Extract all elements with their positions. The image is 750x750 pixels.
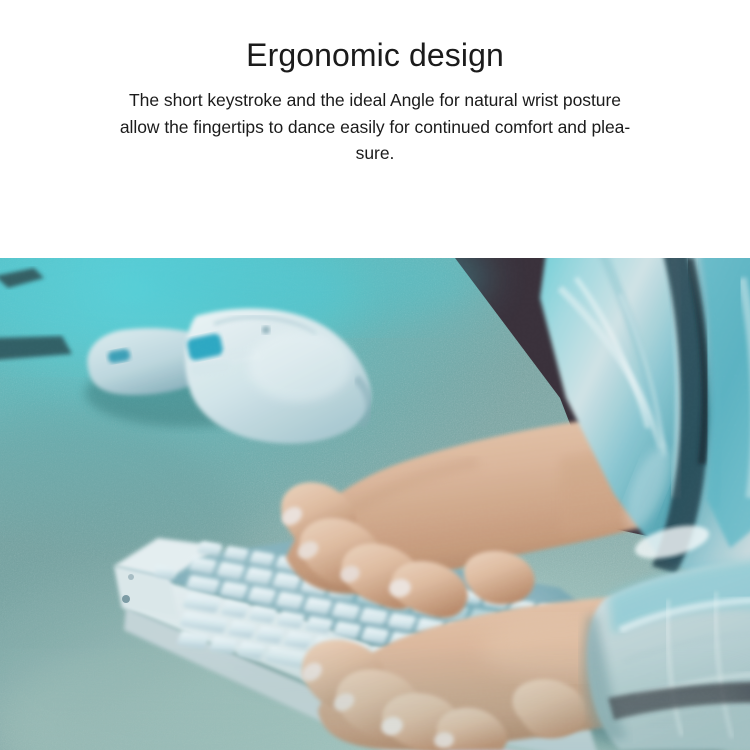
page-title: Ergonomic design	[18, 0, 732, 74]
product-feature-card: Ergonomic design The short keystroke and…	[0, 0, 750, 750]
photo-grain	[0, 258, 750, 750]
product-photo-illustration	[0, 258, 750, 750]
copy-block: Ergonomic design The short keystroke and…	[0, 0, 750, 258]
page-subtitle: The short keystroke and the ideal Angle …	[18, 74, 732, 167]
product-photo	[0, 258, 750, 750]
